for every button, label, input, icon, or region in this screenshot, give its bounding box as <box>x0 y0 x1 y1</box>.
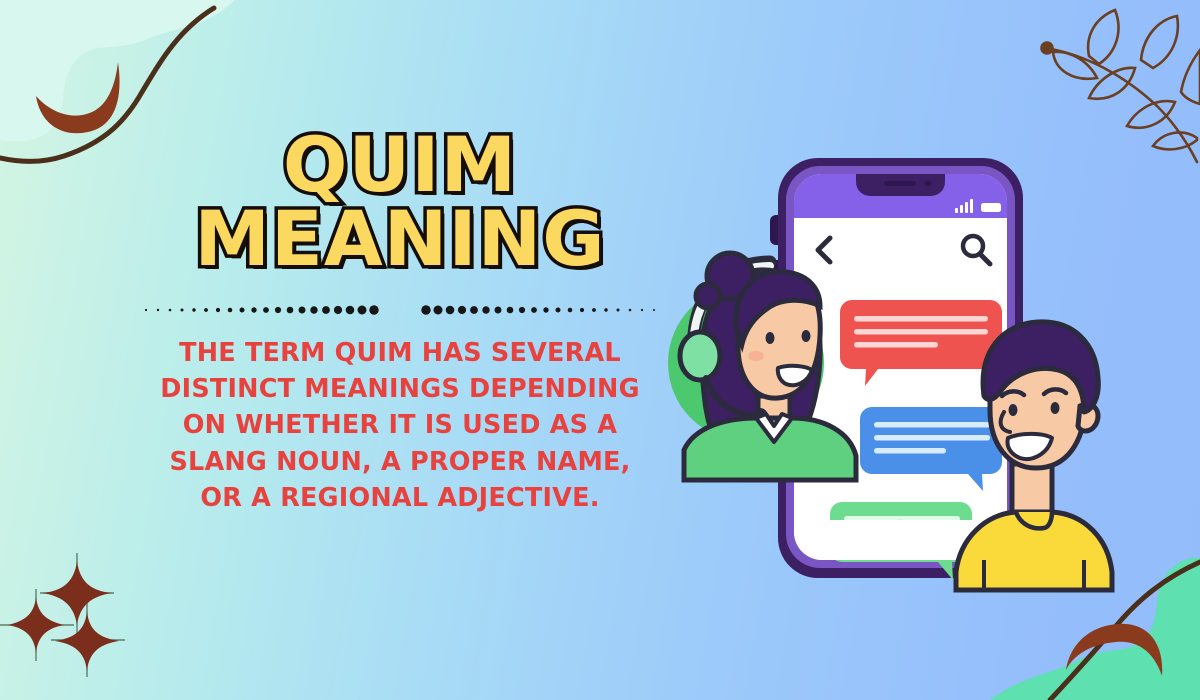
battery-icon <box>981 203 1001 212</box>
body-copy-line-1: THE TERM QUIM HAS SEVERAL <box>110 335 690 371</box>
customer-man-eye-left <box>1009 404 1018 416</box>
phone-front-camera-icon <box>925 181 931 187</box>
decoration-bottom-left <box>0 525 210 700</box>
blob-shape-top-left <box>0 0 235 142</box>
chat-support-illustration <box>660 120 1180 640</box>
body-copy-line-2: DISTINCT MEANINGS DEPENDING <box>110 371 690 407</box>
dotted-divider-svg <box>140 301 660 319</box>
agent-woman-hair-bun-small <box>696 284 720 308</box>
page-title: QUIM MEANING <box>110 128 690 277</box>
sparkle-star-group <box>8 561 119 671</box>
poster-canvas: QUIM MEANING <box>0 0 1200 700</box>
body-copy-line-5: OR A REGIONAL ADJECTIVE. <box>110 480 690 516</box>
body-copy-line-3: ON WHETHER IT IS USED AS A <box>110 407 690 443</box>
body-copy: THE TERM QUIM HAS SEVERAL DISTINCT MEANI… <box>110 335 690 516</box>
phone-speaker-grille <box>884 181 916 186</box>
text-column: QUIM MEANING <box>110 128 690 516</box>
page-title-line-2: MEANING <box>110 202 690 276</box>
customer-man-eye-right <box>1051 402 1060 414</box>
customer-man-neck <box>1012 464 1052 514</box>
headset-earcup-icon <box>680 332 720 380</box>
agent-woman-blush <box>748 351 764 361</box>
page-title-line-1: QUIM <box>110 128 690 202</box>
agent-woman-eye-right <box>802 330 811 342</box>
dotted-divider <box>140 301 660 319</box>
brush-stroke-thick-top-left <box>36 62 120 133</box>
agent-woman-eye-left <box>766 332 775 344</box>
body-copy-line-4: SLANG NOUN, A PROPER NAME, <box>110 444 690 480</box>
